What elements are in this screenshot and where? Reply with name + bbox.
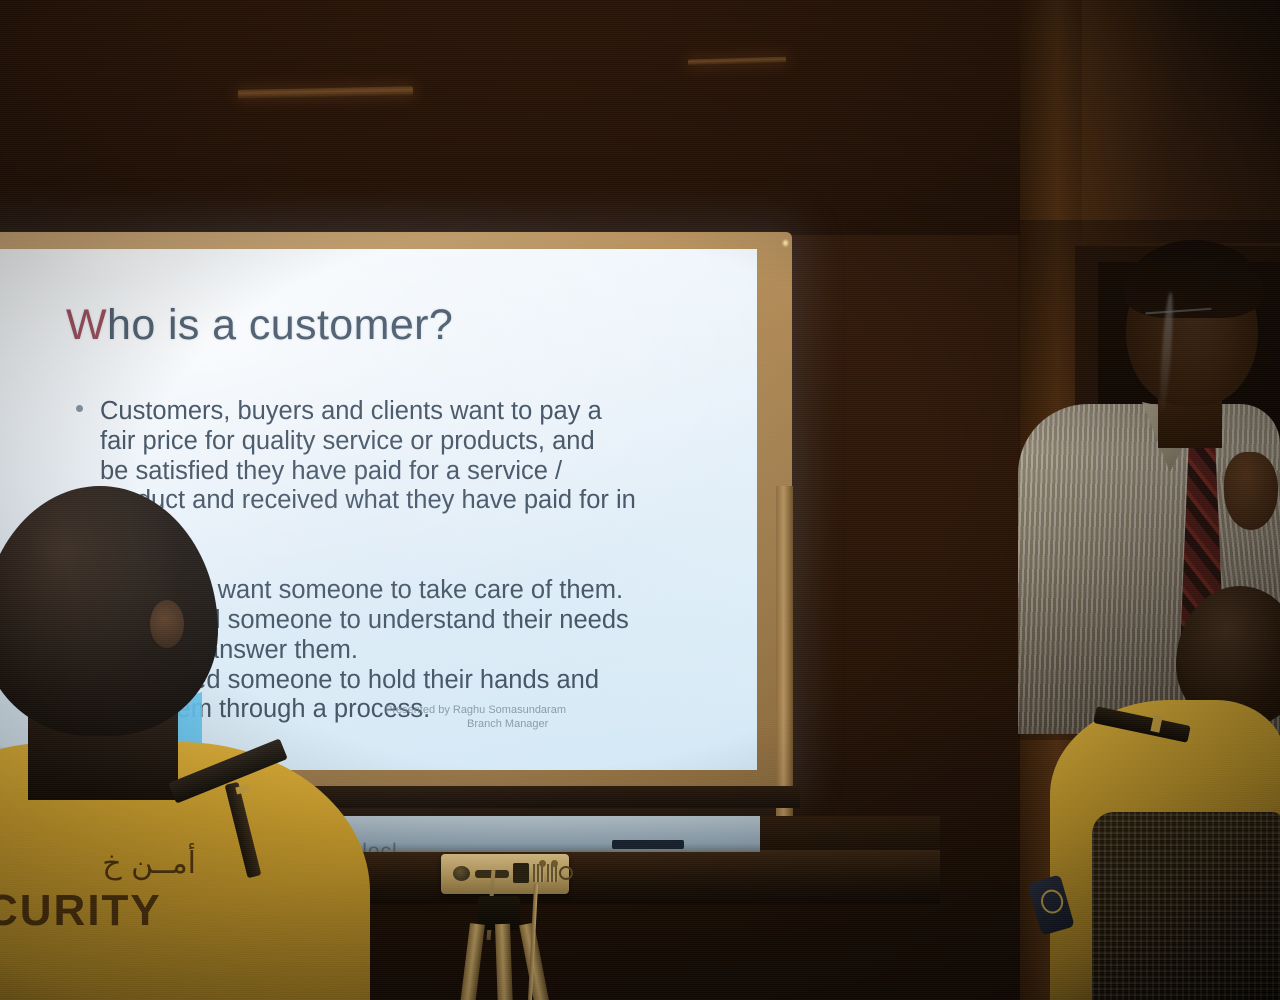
uniform-badge-english: CURITY [0,886,162,936]
room-ceiling [0,0,1040,235]
tripod-leg [495,924,513,1000]
bullet-line: fair price for quality service or produc… [100,427,757,457]
slide-footer-role: Branch Manager [385,718,685,732]
mesh-office-chair [1092,812,1280,1000]
projector-power-button[interactable] [559,866,573,880]
photo-scene: Who is a customer? Customers, buyers and… [0,0,1280,1000]
presenter-hand [1224,452,1278,530]
projector-body-block [513,863,529,883]
slide-title-rest: ho is a customer? [107,301,453,349]
foreground-guard-ear [150,600,184,648]
bullet-line: Customers, buyers and clients want to pa… [100,397,757,427]
projector-lens-icon [453,866,470,881]
projector-indicator-led [539,860,546,867]
slide-title: Who is a customer? [66,301,453,350]
slide-footer: Presented by Raghu Somasundaram Branch M… [385,704,685,732]
bullet-line: product and received what they have paid… [100,486,757,516]
desk-slot [612,840,684,849]
bullet-line: be satisfied they have paid for a servic… [100,457,757,487]
slide-title-accent-letter: W [66,301,107,349]
projector[interactable] [441,854,569,894]
bullet-line: full. [100,516,757,546]
slide-bullet: Customers, buyers and clients want to pa… [100,397,757,546]
whiteboard-stand-pole [776,486,793,816]
projector-indicator-led [551,860,558,867]
bullet-marker-icon [76,405,83,412]
slide-footer-presenter: Presented by Raghu Somasundaram [385,704,685,718]
